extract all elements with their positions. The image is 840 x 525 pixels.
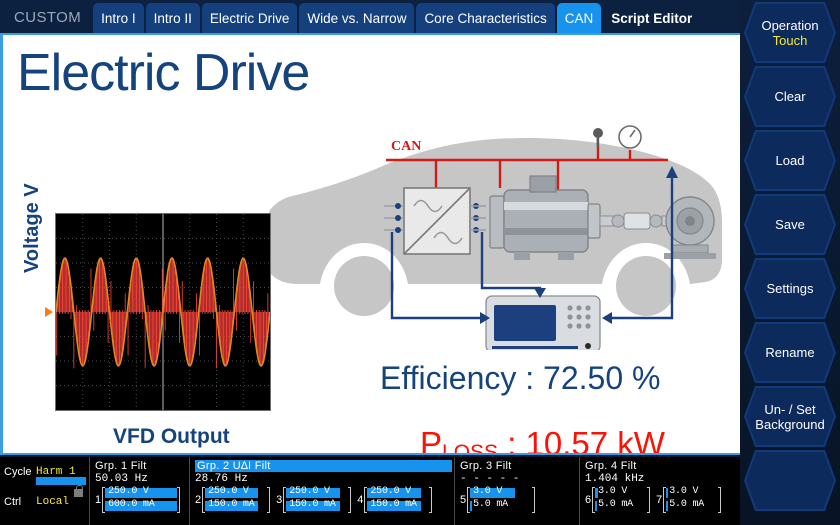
pwm-pulse bbox=[162, 269, 163, 312]
tab-intro-i[interactable]: Intro I bbox=[93, 3, 144, 33]
pwm-pulse bbox=[213, 312, 214, 319]
custom-label: CUSTOM bbox=[0, 9, 93, 33]
channel-number: 7 bbox=[656, 494, 662, 506]
pwm-pulse bbox=[230, 310, 231, 312]
tab-core-characteristics[interactable]: Core Characteristics bbox=[416, 3, 554, 33]
car-wheel-rear bbox=[616, 256, 676, 316]
channel-current-value: 5.0 mA bbox=[598, 499, 633, 510]
pwm-pulse bbox=[222, 310, 223, 312]
channel-bracket-right bbox=[532, 487, 535, 513]
channel-number: 1 bbox=[95, 494, 101, 506]
ctrl-value: Local bbox=[36, 496, 69, 508]
channel-current-bar: 150.0 mA bbox=[205, 500, 267, 512]
channel-bracket-right bbox=[647, 487, 650, 513]
right-softkey-sidebar: OperationTouchClearLoadSaveSettingsRenam… bbox=[740, 0, 840, 525]
softkey-label: Clear bbox=[774, 89, 805, 104]
pwm-pulse bbox=[120, 312, 121, 361]
channel-current-value: 600.0 mA bbox=[108, 499, 154, 510]
pwm-pulse bbox=[63, 259, 64, 312]
status-group-frequency: - - - - - bbox=[460, 473, 577, 485]
softkey-face bbox=[746, 452, 834, 509]
channel-current-bar: 600.0 mA bbox=[105, 500, 177, 512]
channel-current-bar: 5.0 mA bbox=[470, 500, 532, 512]
channel-bracket-right bbox=[267, 487, 270, 513]
pwm-pulse bbox=[223, 312, 224, 363]
ploss-prefix: P bbox=[420, 425, 442, 455]
pwm-pulse bbox=[172, 258, 173, 312]
pwm-pulse bbox=[240, 263, 241, 312]
softkey-operation[interactable]: OperationTouch bbox=[744, 2, 836, 63]
pwm-pulse bbox=[259, 310, 260, 312]
pwm-pulse bbox=[116, 310, 117, 312]
pwm-pulse bbox=[128, 312, 129, 355]
pwm-pulse bbox=[102, 261, 103, 312]
pwm-pulse bbox=[169, 263, 170, 312]
pwm-pulse bbox=[165, 312, 166, 331]
channel-number: 4 bbox=[357, 494, 363, 506]
pwm-pulse bbox=[242, 312, 243, 314]
status-group-4[interactable]: Grp. 4 Filt1.404 kHz63.0 V5.0 mA73.0 V5.… bbox=[580, 457, 740, 525]
pwm-pulse bbox=[152, 312, 153, 363]
status-group-title: Grp. 3 Filt bbox=[460, 460, 577, 472]
pwm-pulse bbox=[99, 312, 100, 314]
electric-drive-diagram: CAN bbox=[258, 110, 728, 350]
pwm-pulse bbox=[155, 312, 156, 365]
pwm-pulse bbox=[224, 312, 225, 366]
pwm-pulse bbox=[88, 310, 89, 312]
pwm-pulse bbox=[116, 312, 117, 363]
status-bar: Cycle Harm 1 Ctrl Local Grp. 1 Filt50.03… bbox=[0, 457, 740, 525]
pwm-pulse bbox=[182, 281, 183, 312]
status-control-column: Cycle Harm 1 Ctrl Local bbox=[0, 457, 90, 525]
pwm-pulse bbox=[179, 312, 180, 343]
pwm-pulse bbox=[239, 312, 240, 314]
status-group-frequency: 1.404 kHz bbox=[585, 473, 738, 485]
pwm-pulse bbox=[205, 263, 206, 312]
pwm-pulse bbox=[85, 310, 86, 312]
pwm-pulse bbox=[205, 312, 206, 314]
pwm-pulse bbox=[189, 312, 190, 366]
pwm-pulse bbox=[153, 312, 154, 366]
softkey-sublabel: Touch bbox=[773, 33, 808, 48]
pwm-pulse bbox=[206, 259, 207, 312]
pwm-pulse bbox=[119, 312, 120, 365]
pwm-pulse bbox=[265, 310, 266, 312]
status-group-3[interactable]: Grp. 3 Filt- - - - -53.0 V5.0 mA bbox=[455, 457, 580, 525]
ploss-value: : 10.57 kW bbox=[498, 425, 665, 455]
pwm-pulse bbox=[173, 312, 174, 314]
pwm-pulse bbox=[98, 263, 99, 312]
pwm-pulse bbox=[256, 310, 257, 312]
scope-caption: VFD Output bbox=[113, 425, 230, 449]
status-group-title: Grp. 4 Filt bbox=[585, 460, 738, 472]
tab-script-editor[interactable]: Script Editor bbox=[603, 3, 700, 33]
pwm-pulse bbox=[185, 310, 186, 312]
pwm-pulse bbox=[99, 259, 100, 312]
pwm-pulse bbox=[156, 310, 157, 312]
channel-bracket-right bbox=[718, 487, 721, 513]
status-group-title: Grp. 2 U∆I Filt bbox=[195, 460, 452, 472]
power-analyzer-device bbox=[486, 296, 600, 350]
softkey-save[interactable]: Save bbox=[744, 194, 836, 255]
status-channel[interactable]: 1250.0 V600.0 mA bbox=[95, 487, 180, 513]
pwm-pulse bbox=[80, 312, 81, 363]
softkey-empty-7[interactable] bbox=[744, 450, 836, 511]
tab-electric-drive[interactable]: Electric Drive bbox=[202, 3, 298, 33]
channel-voltage-bar: 3.0 V bbox=[470, 487, 532, 499]
channel-voltage-value: 250.0 V bbox=[208, 486, 249, 497]
status-group-frequency: 50.03 Hz bbox=[95, 473, 187, 485]
softkey-label: Operation bbox=[761, 18, 818, 33]
pwm-pulse bbox=[190, 312, 191, 365]
pwm-pulse bbox=[139, 312, 140, 314]
channel-voltage-bar: 250.0 V bbox=[205, 487, 267, 499]
pwm-pulse bbox=[85, 312, 86, 361]
channel-current-bar: 150.0 mA bbox=[367, 500, 429, 512]
pwm-pulse bbox=[202, 312, 203, 314]
waveform-scope[interactable] bbox=[55, 213, 271, 411]
pwm-pulse bbox=[199, 312, 200, 355]
softkey-load[interactable]: Load bbox=[744, 130, 836, 191]
tab-wide-vs-narrow[interactable]: Wide vs. Narrow bbox=[299, 3, 414, 33]
status-channel[interactable]: 4250.0 V150.0 mA bbox=[357, 487, 432, 513]
can-label: CAN bbox=[391, 139, 421, 154]
channel-bracket-right bbox=[177, 487, 180, 513]
pwm-pulse bbox=[250, 312, 251, 343]
pwm-pulse bbox=[62, 312, 63, 314]
channel-voltage-value: 3.0 V bbox=[598, 486, 627, 497]
cycle-label: Cycle bbox=[4, 466, 36, 478]
pwm-pulse bbox=[188, 310, 189, 312]
channel-number: 2 bbox=[195, 494, 201, 506]
harmonic-bar-indicator bbox=[36, 477, 86, 485]
pwm-pulse bbox=[196, 293, 197, 312]
pwm-pulse bbox=[226, 312, 227, 365]
pwm-pulse bbox=[153, 310, 154, 312]
softkey-label: Save bbox=[775, 217, 805, 232]
pwm-pulse bbox=[125, 293, 126, 312]
tab-intro-ii[interactable]: Intro II bbox=[146, 3, 200, 33]
pwm-pulse bbox=[102, 312, 103, 314]
channel-voltage-value: 3.0 V bbox=[669, 486, 698, 497]
pwm-pulse bbox=[105, 312, 106, 314]
pwm-pulse bbox=[66, 261, 67, 312]
pwm-pulse bbox=[59, 312, 60, 314]
pwm-pulse bbox=[91, 269, 92, 312]
power-loss-readout: PLOSS : 10.57 kW bbox=[420, 425, 665, 455]
status-channel[interactable]: 3250.0 V150.0 mA bbox=[276, 487, 351, 513]
pwm-pulse bbox=[76, 305, 77, 312]
pwm-pulse bbox=[262, 310, 263, 312]
tab-can[interactable]: CAN bbox=[557, 3, 602, 33]
pwm-pulse bbox=[263, 312, 264, 361]
status-group-1[interactable]: Grp. 1 Filt50.03 Hz1250.0 V600.0 mA bbox=[90, 457, 190, 525]
pwm-pulse bbox=[136, 258, 137, 312]
pwm-pulse bbox=[150, 310, 151, 312]
pwm-pulse bbox=[247, 312, 248, 314]
softkey-settings[interactable]: Settings bbox=[744, 258, 836, 319]
pwm-pulse bbox=[100, 258, 101, 312]
pwm-pulse bbox=[142, 312, 143, 319]
bar-fill bbox=[666, 501, 668, 511]
channel-bracket-right bbox=[429, 487, 432, 513]
pwm-pulse bbox=[170, 312, 171, 314]
channel-current-value: 5.0 mA bbox=[669, 499, 704, 510]
channel-voltage-bar: 250.0 V bbox=[367, 487, 429, 499]
pwm-pulse bbox=[79, 310, 80, 312]
status-group-frequency: 28.76 Hz bbox=[195, 473, 452, 485]
channel-current-bar: 150.0 mA bbox=[286, 500, 348, 512]
pwm-pulse bbox=[190, 310, 191, 312]
channel-voltage-value: 250.0 V bbox=[370, 486, 411, 497]
channel-number: 5 bbox=[460, 494, 466, 506]
channel-voltage-bar: 250.0 V bbox=[105, 487, 177, 499]
pwm-pulse bbox=[113, 310, 114, 312]
pwm-pulse bbox=[208, 312, 209, 314]
pwm-pulse bbox=[187, 312, 188, 363]
softkey-label: Un- / Set bbox=[764, 402, 815, 417]
pwm-pulse bbox=[108, 312, 109, 343]
pwm-pulse bbox=[159, 310, 160, 312]
pwm-pulse bbox=[148, 305, 149, 312]
pwm-pulse bbox=[219, 305, 220, 312]
pwm-pulse bbox=[207, 258, 208, 312]
softkey-rename[interactable]: Rename bbox=[744, 322, 836, 383]
tab-bar: CUSTOM Intro IIntro IIElectric DriveWide… bbox=[0, 0, 740, 33]
pwm-pulse bbox=[96, 312, 97, 314]
pwm-pulse bbox=[227, 310, 228, 312]
status-channel[interactable]: 63.0 V5.0 mA bbox=[585, 487, 650, 513]
bar-fill bbox=[666, 488, 668, 498]
softkey-un-set[interactable]: Un- / SetBackground bbox=[744, 386, 836, 447]
softkey-label: Load bbox=[776, 153, 805, 168]
trigger-marker-icon bbox=[45, 307, 53, 317]
pwm-pulse bbox=[111, 281, 112, 312]
pwm-pulse bbox=[173, 261, 174, 312]
lock-icon[interactable] bbox=[74, 489, 83, 497]
channel-voltage-bar: 3.0 V bbox=[595, 487, 647, 499]
pwm-pulse bbox=[227, 312, 228, 361]
pwm-pulse bbox=[170, 259, 171, 312]
channel-bracket-right bbox=[348, 487, 351, 513]
pwm-pulse bbox=[242, 259, 243, 312]
pwm-pulse bbox=[176, 312, 177, 314]
gauge-icon bbox=[619, 126, 641, 148]
channel-current-value: 150.0 mA bbox=[289, 499, 335, 510]
device-screen: CUSTOM Intro IIntro IIElectric DriveWide… bbox=[0, 0, 840, 525]
pwm-pulse bbox=[62, 263, 63, 312]
pwm-pulse bbox=[82, 312, 83, 366]
pwm-pulse bbox=[68, 312, 69, 314]
channel-voltage-value: 3.0 V bbox=[473, 486, 502, 497]
pwm-pulse bbox=[259, 312, 260, 363]
softkey-label: Rename bbox=[765, 345, 814, 360]
efficiency-readout: Efficiency : 72.50 % bbox=[380, 360, 660, 397]
pwm-pulse bbox=[136, 312, 137, 314]
pwm-pulse bbox=[243, 258, 244, 312]
main-content-panel: Electric Drive CAN bbox=[0, 33, 740, 455]
pwm-pulse bbox=[267, 293, 268, 312]
pwm-pulse bbox=[93, 312, 94, 331]
channel-current-bar: 5.0 mA bbox=[666, 500, 718, 512]
pwm-pulse bbox=[245, 312, 246, 314]
status-group-title: Grp. 1 Filt bbox=[95, 460, 187, 472]
car-wheel-front bbox=[334, 256, 394, 316]
pwm-pulse bbox=[135, 259, 136, 312]
channel-current-bar: 5.0 mA bbox=[595, 500, 647, 512]
pwm-pulse bbox=[56, 312, 57, 355]
pwm-pulse bbox=[65, 312, 66, 314]
pwm-pulse bbox=[209, 261, 210, 312]
ctrl-label: Ctrl bbox=[4, 496, 36, 508]
pwm-pulse bbox=[122, 310, 123, 312]
scope-screen bbox=[55, 213, 271, 411]
channel-number: 3 bbox=[276, 494, 282, 506]
pwm-pulse bbox=[137, 261, 138, 312]
ploss-subscript: LOSS bbox=[442, 441, 498, 455]
pwm-pulse bbox=[168, 312, 169, 314]
pwm-pulse bbox=[225, 310, 226, 312]
pwm-pulse bbox=[244, 261, 245, 312]
pwm-pulse bbox=[117, 312, 118, 366]
bar-fill bbox=[595, 501, 597, 511]
softkey-sublabel: Background bbox=[755, 417, 824, 432]
pwm-pulse bbox=[133, 263, 134, 312]
softkey-clear[interactable]: Clear bbox=[744, 66, 836, 127]
pwm-pulse bbox=[71, 312, 72, 319]
channel-voltage-bar: 250.0 V bbox=[286, 487, 348, 499]
inverter-block bbox=[404, 188, 470, 254]
pwm-pulse bbox=[262, 312, 263, 365]
pwm-pulse bbox=[83, 312, 84, 365]
channel-voltage-bar: 3.0 V bbox=[666, 487, 718, 499]
pwm-pulse bbox=[130, 312, 131, 314]
channel-voltage-value: 250.0 V bbox=[108, 486, 149, 497]
status-channel[interactable]: 73.0 V5.0 mA bbox=[656, 487, 721, 513]
status-channel[interactable]: 2250.0 V150.0 mA bbox=[195, 487, 270, 513]
pwm-pulse bbox=[65, 258, 66, 312]
channel-number: 6 bbox=[585, 494, 591, 506]
pwm-pulse bbox=[236, 312, 237, 331]
page-title: Electric Drive bbox=[17, 43, 309, 103]
status-group-2[interactable]: Grp. 2 U∆I Filt28.76 Hz2250.0 V150.0 mA3… bbox=[190, 457, 455, 525]
channel-current-value: 150.0 mA bbox=[208, 499, 254, 510]
pwm-pulse bbox=[119, 310, 120, 312]
bar-fill bbox=[470, 501, 472, 511]
pwm-pulse bbox=[156, 312, 157, 361]
pwm-pulse bbox=[133, 312, 134, 314]
pwm-pulse bbox=[233, 269, 234, 312]
status-channel[interactable]: 53.0 V5.0 mA bbox=[460, 487, 535, 513]
pwm-pulse bbox=[82, 310, 83, 312]
pwm-pulse bbox=[193, 310, 194, 312]
inverter-input-dots bbox=[395, 203, 401, 233]
pwm-pulse bbox=[210, 312, 211, 314]
channel-voltage-value: 250.0 V bbox=[289, 486, 330, 497]
pwm-pulse bbox=[192, 312, 193, 361]
pwm-pulse bbox=[253, 281, 254, 312]
softkey-label: Settings bbox=[767, 281, 814, 296]
channel-current-value: 150.0 mA bbox=[370, 499, 416, 510]
scope-y-axis-label: Voltage V bbox=[21, 183, 44, 273]
channel-current-value: 5.0 mA bbox=[473, 499, 508, 510]
pwm-pulse bbox=[260, 312, 261, 366]
scope-canvas bbox=[56, 214, 270, 410]
